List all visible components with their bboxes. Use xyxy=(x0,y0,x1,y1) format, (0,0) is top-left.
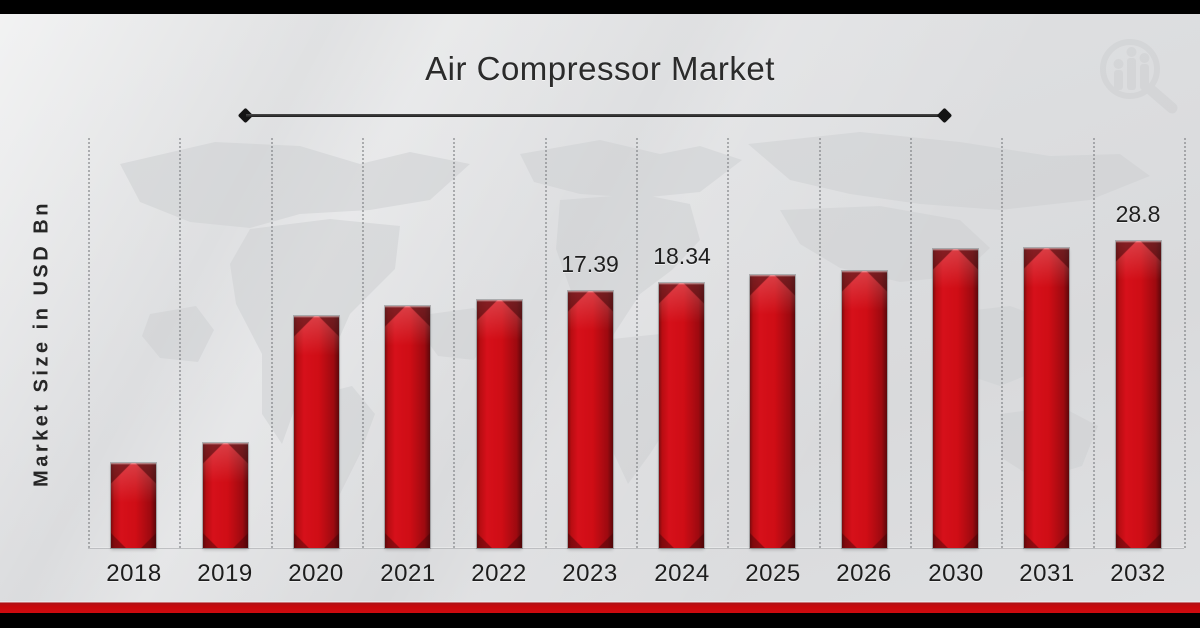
bar-highlight xyxy=(477,300,522,302)
bar-highlight xyxy=(842,271,887,273)
top-black-band xyxy=(0,0,1200,14)
bar-bottom-bevel xyxy=(568,532,613,548)
bar-top-bevel xyxy=(933,249,978,293)
x-axis-label-2021: 2021 xyxy=(360,560,456,588)
bar-2023[interactable] xyxy=(568,291,613,548)
rule-line xyxy=(246,114,944,117)
gridline xyxy=(1184,138,1186,548)
gridline xyxy=(727,138,729,548)
bar-body xyxy=(1116,241,1161,548)
x-axis-label-2032: 2032 xyxy=(1090,560,1186,588)
bottom-black-band xyxy=(0,613,1200,628)
bar-highlight xyxy=(933,249,978,251)
bar-top-bevel xyxy=(294,316,339,360)
bar-body xyxy=(1024,248,1069,548)
gridline xyxy=(819,138,821,548)
bar-2022[interactable] xyxy=(477,300,522,548)
bar-bottom-bevel xyxy=(1116,532,1161,548)
gridline xyxy=(910,138,912,548)
plot-area: 17.3918.3428.8 xyxy=(88,138,1184,548)
bar-top-bevel xyxy=(203,443,248,487)
x-axis-label-2025: 2025 xyxy=(725,560,821,588)
bar-bottom-bevel xyxy=(294,532,339,548)
bar-top-bevel xyxy=(568,291,613,335)
bar-top-bevel xyxy=(659,283,704,327)
x-axis-label-2023: 2023 xyxy=(542,560,638,588)
bar-top-bevel xyxy=(1116,241,1161,285)
bar-2019[interactable] xyxy=(203,443,248,548)
bar-body xyxy=(933,249,978,548)
bar-2018[interactable] xyxy=(111,463,156,548)
bar-top-bevel xyxy=(750,275,795,319)
chart-canvas: Air Compressor Market Market Size in USD… xyxy=(0,14,1200,602)
bar-2030[interactable] xyxy=(933,249,978,548)
bar-bottom-bevel xyxy=(385,532,430,548)
bar-2020[interactable] xyxy=(294,316,339,548)
bar-highlight xyxy=(203,443,248,445)
bar-2026[interactable] xyxy=(842,271,887,548)
bar-bottom-bevel xyxy=(659,532,704,548)
bar-highlight xyxy=(1024,248,1069,250)
gridline xyxy=(271,138,273,548)
data-label-2024: 18.34 xyxy=(646,243,718,270)
bar-top-bevel xyxy=(1024,248,1069,292)
bar-bottom-bevel xyxy=(933,532,978,548)
gridline xyxy=(179,138,181,548)
gridline xyxy=(636,138,638,548)
bar-highlight xyxy=(659,283,704,285)
x-axis-label-2030: 2030 xyxy=(908,560,1004,588)
bar-bottom-bevel xyxy=(111,532,156,548)
bar-bottom-bevel xyxy=(1024,532,1069,548)
x-axis-label-2031: 2031 xyxy=(999,560,1095,588)
bar-top-bevel xyxy=(385,306,430,350)
x-axis-label-2026: 2026 xyxy=(816,560,912,588)
gridline xyxy=(453,138,455,548)
bar-2031[interactable] xyxy=(1024,248,1069,548)
title-underline-rule xyxy=(240,112,950,118)
bar-2025[interactable] xyxy=(750,275,795,548)
y-axis-title: Market Size in USD Bn xyxy=(31,134,54,554)
bar-2024[interactable] xyxy=(659,283,704,548)
gridline xyxy=(1001,138,1003,548)
bottom-red-stripe xyxy=(0,601,1200,613)
bar-bottom-bevel xyxy=(203,532,248,548)
bar-2032[interactable] xyxy=(1116,241,1161,548)
bar-top-bevel xyxy=(111,463,156,507)
gridline xyxy=(88,138,90,548)
x-axis-label-2022: 2022 xyxy=(451,560,547,588)
gridline xyxy=(1093,138,1095,548)
bar-highlight xyxy=(385,306,430,308)
gridline xyxy=(362,138,364,548)
bar-top-bevel xyxy=(842,271,887,315)
infographic-frame: Air Compressor Market Market Size in USD… xyxy=(0,0,1200,628)
bar-highlight xyxy=(111,463,156,465)
bar-highlight xyxy=(568,291,613,293)
bar-bottom-bevel xyxy=(477,532,522,548)
gridline xyxy=(545,138,547,548)
bar-top-bevel xyxy=(477,300,522,344)
page-title: Air Compressor Market xyxy=(0,50,1200,88)
bar-bottom-bevel xyxy=(750,532,795,548)
x-axis-label-2020: 2020 xyxy=(268,560,364,588)
bar-highlight xyxy=(1116,241,1161,243)
x-axis-label-2018: 2018 xyxy=(86,560,182,588)
bar-bottom-bevel xyxy=(842,532,887,548)
bar-highlight xyxy=(294,316,339,318)
x-axis-label-2019: 2019 xyxy=(177,560,273,588)
x-axis-label-2024: 2024 xyxy=(634,560,730,588)
data-label-2032: 28.8 xyxy=(1102,201,1174,228)
data-label-2023: 17.39 xyxy=(554,251,626,278)
bar-2021[interactable] xyxy=(385,306,430,548)
bar-highlight xyxy=(750,275,795,277)
